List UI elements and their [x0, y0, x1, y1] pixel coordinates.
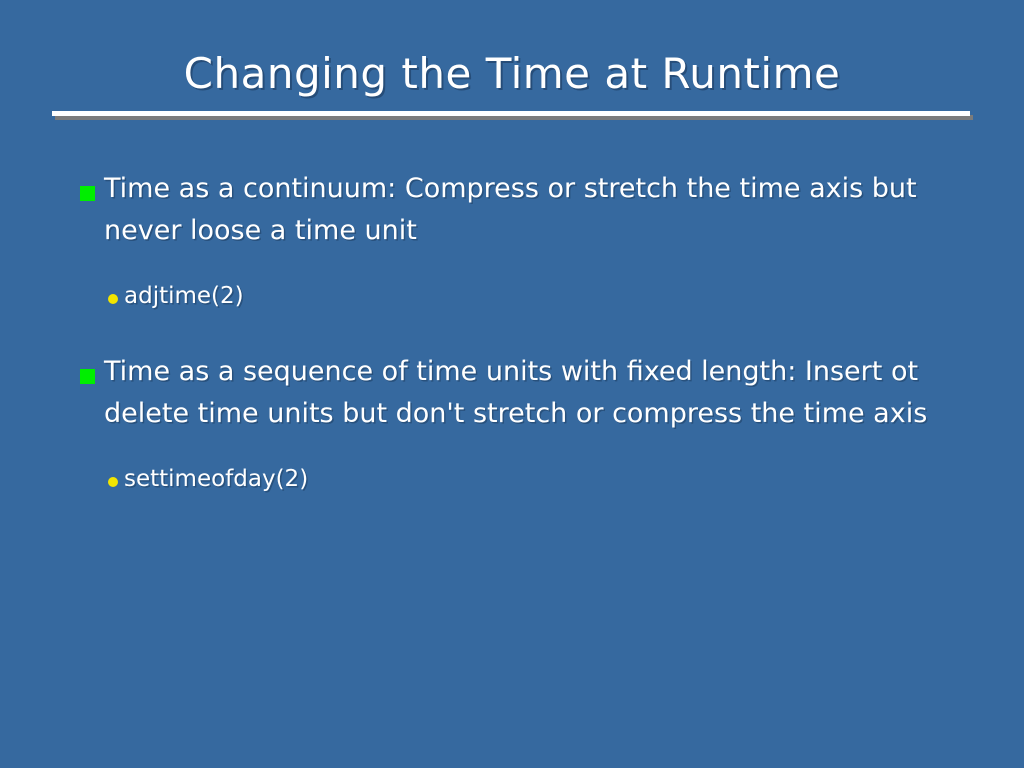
bullet-text: Time as a continuum: Compress or stretch…: [104, 168, 954, 252]
title-divider-line: [52, 111, 970, 116]
green-square-bullet-icon: [80, 369, 95, 384]
list-item: adjtime(2): [0, 279, 1024, 313]
title-divider-rule: [52, 111, 970, 120]
list-item: settimeofday(2): [0, 462, 1024, 496]
bullet-text: adjtime(2): [124, 279, 954, 313]
yellow-dot-bullet-icon: [108, 477, 118, 487]
presentation-slide: Changing the Time at Runtime Time as a c…: [0, 0, 1024, 768]
green-square-bullet-icon: [80, 186, 95, 201]
list-item: Time as a continuum: Compress or stretch…: [0, 168, 1024, 252]
page-title: Changing the Time at Runtime: [0, 48, 1024, 100]
slide-body: Time as a continuum: Compress or stretch…: [0, 168, 1024, 496]
bullet-text: settimeofday(2): [124, 462, 954, 496]
yellow-dot-bullet-icon: [108, 294, 118, 304]
list-item: Time as a sequence of time units with fi…: [0, 351, 1024, 435]
slide-title-block: Changing the Time at Runtime: [0, 48, 1024, 100]
bullet-text: Time as a sequence of time units with fi…: [104, 351, 954, 435]
